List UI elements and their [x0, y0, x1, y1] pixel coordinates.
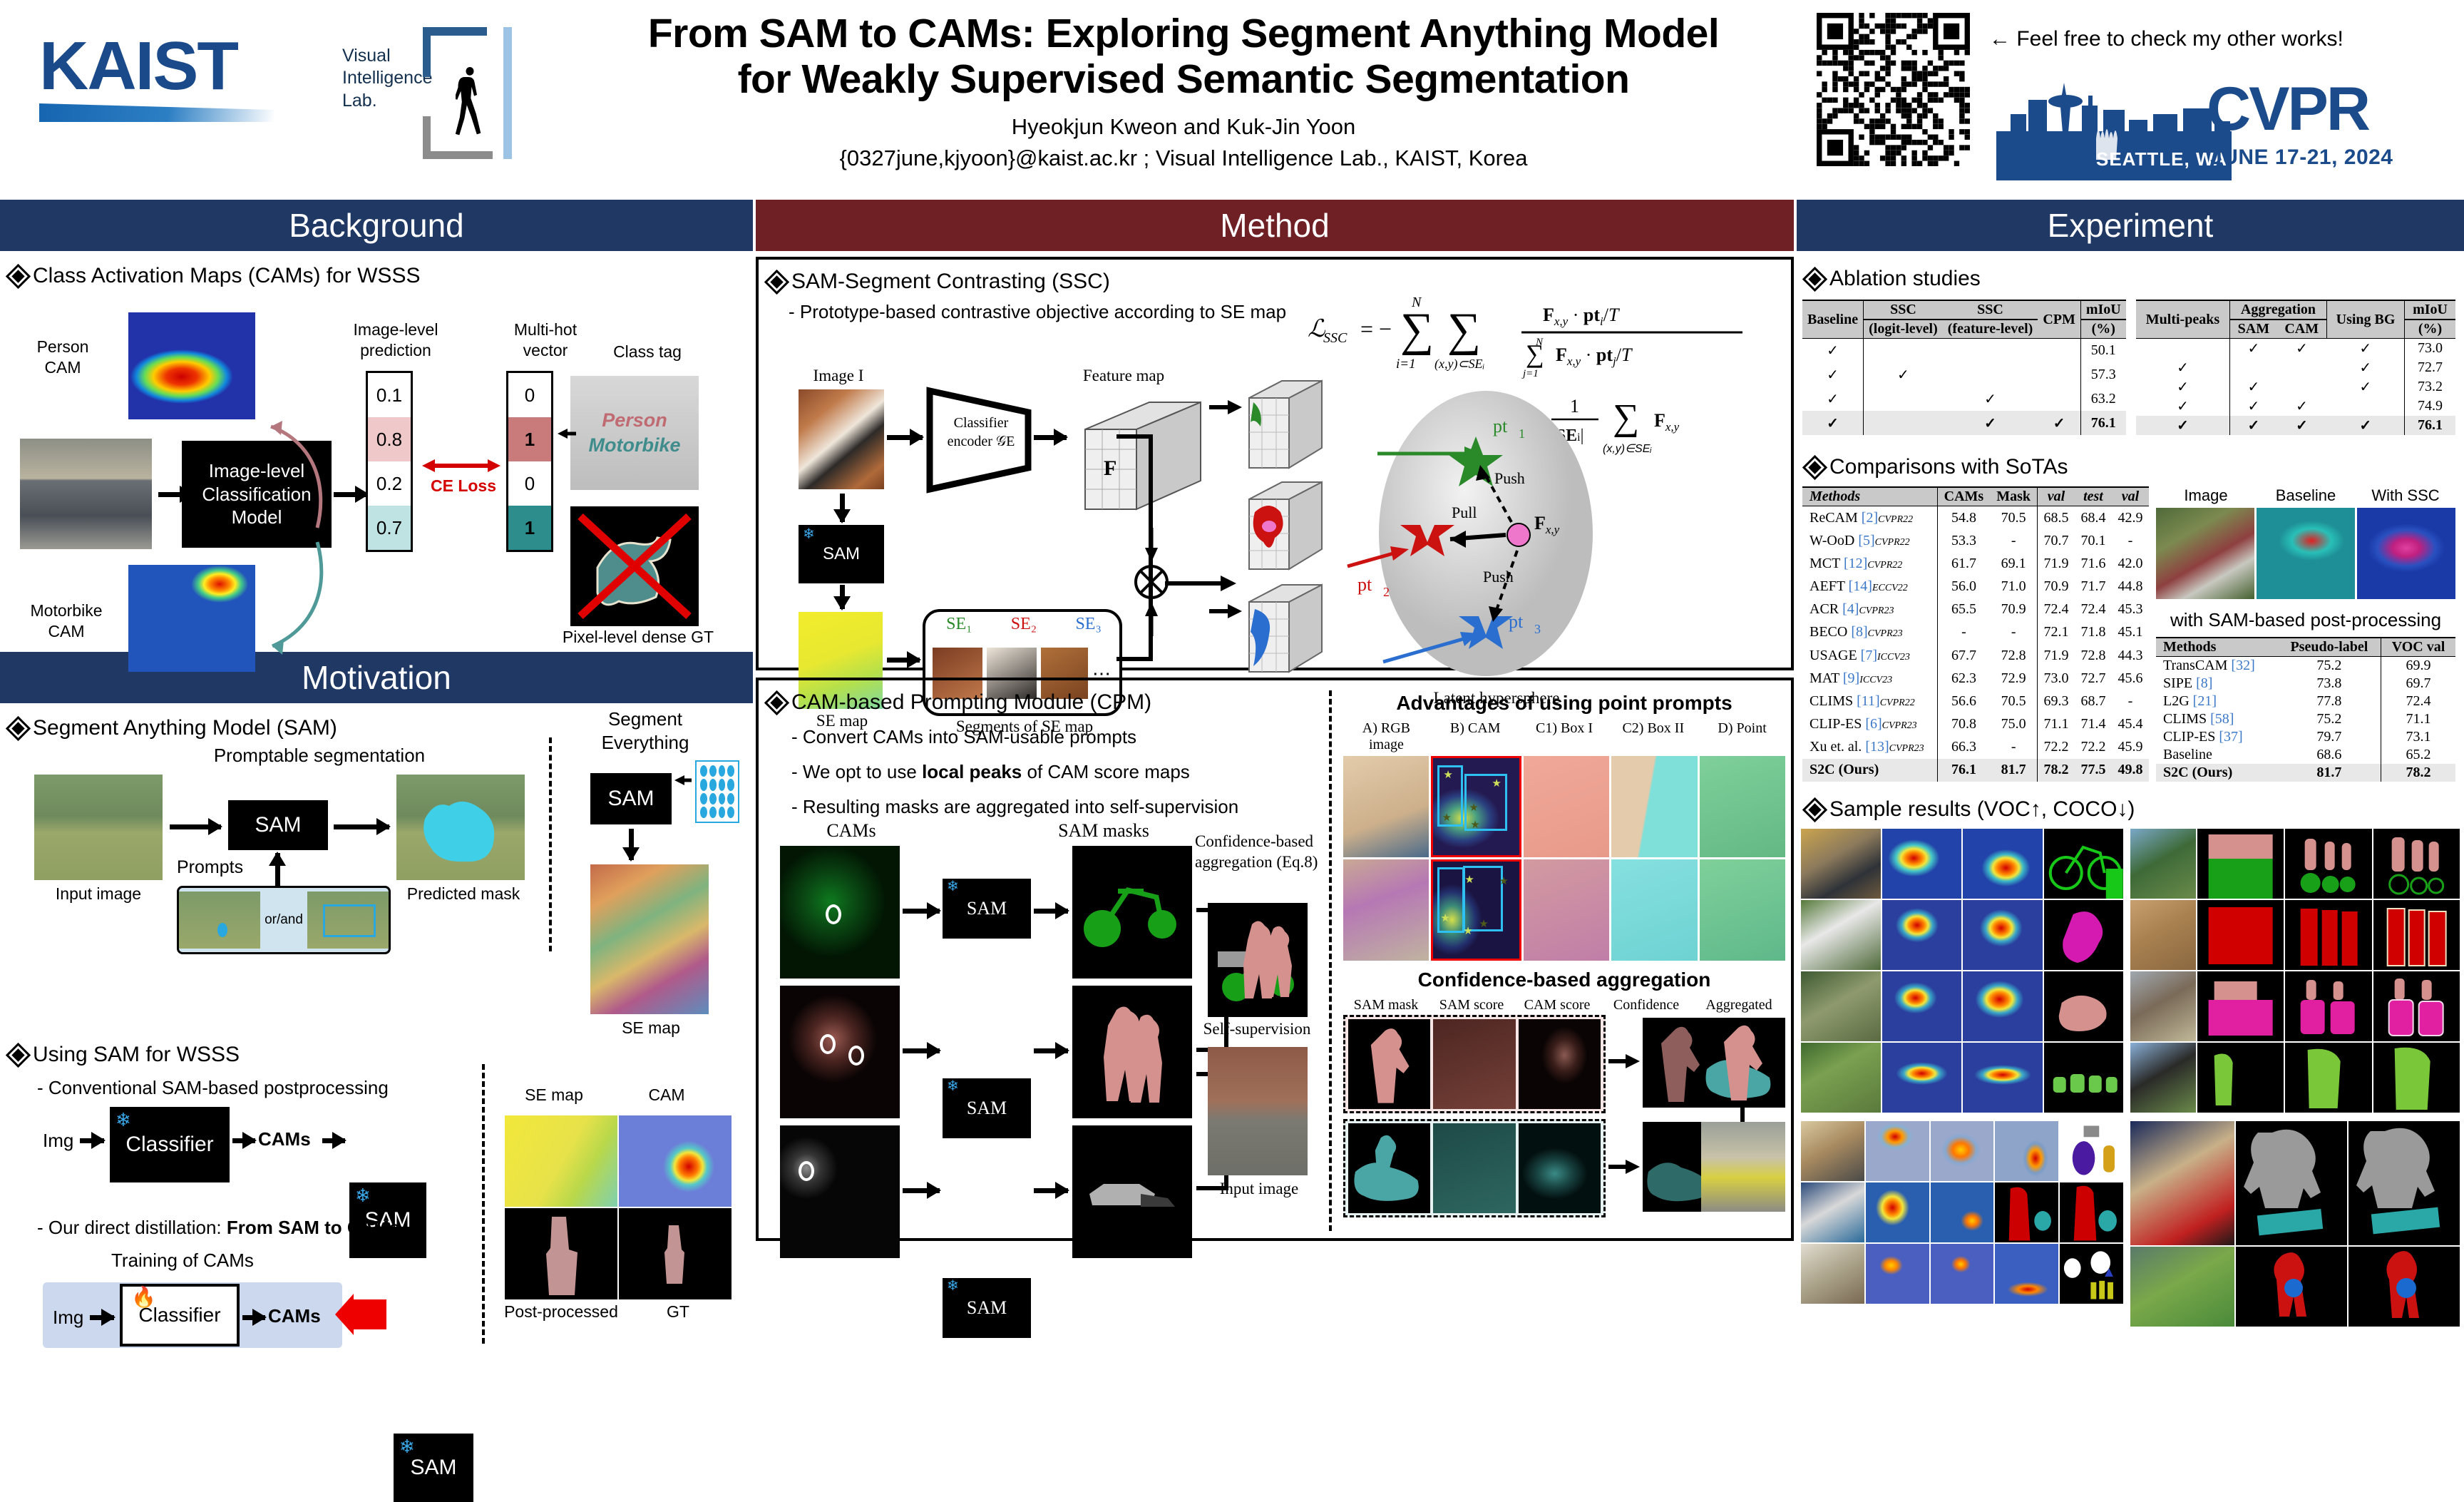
table-row: ReCAM [2]CVPR2254.870.568.568.442.9 [1802, 506, 2149, 530]
ours-bold-text: From SAM to CAMs [227, 1217, 400, 1238]
adv-col-label: C2) Box II [1610, 720, 1696, 753]
sample-mask-b [2285, 971, 2371, 1041]
sota-value-cell: 72.2 [2075, 736, 2112, 759]
sample-cam [1866, 1121, 1929, 1181]
sota-value-cell: 71.0 [1990, 576, 2037, 598]
sota-value-cell: 45.3 [2112, 598, 2149, 621]
check-cell [1864, 387, 1943, 412]
table-row: SIPE [8]73.869.7 [2156, 675, 2455, 693]
sam-mask-bike [1348, 1123, 1430, 1213]
sota-value-cell: 71.1 [2037, 712, 2075, 735]
poster-root: KAIST Visual Intelligence Lab. From SAM … [0, 0, 2464, 1232]
sota-method-cell: ACR [4]CVPR23 [1802, 598, 1937, 621]
cam-score-bike [1519, 1123, 1601, 1213]
qual-col-label: With SSC [2356, 486, 2455, 505]
sota-value-cell: 72.4 [2075, 598, 2112, 621]
svg-text:pt: pt [1493, 416, 1508, 436]
col-baseline: Baseline [1802, 300, 1864, 339]
sample-mask [2044, 1043, 2124, 1113]
adv-col-label: D) Point [1699, 720, 1785, 753]
sota-value-cell: - [1990, 621, 2037, 644]
confagg-col-label: CAM score [1514, 997, 1600, 1013]
sample-mask-a [2236, 1121, 2347, 1245]
cvpr-date-label: JUNE 17-21, 2024 [2210, 145, 2393, 170]
sota-value-cell: - [1990, 529, 2037, 552]
sample-image [1801, 900, 1881, 970]
ours-bullet: - Our direct distillation: From SAM to C… [37, 1217, 400, 1239]
train-cams-label: CAMs [268, 1305, 321, 1327]
sample-row [2130, 829, 2460, 899]
sota-value-cell: 73.0 [2037, 667, 2075, 690]
confagg-row-person [1343, 1015, 1606, 1113]
sample-mask [2044, 971, 2124, 1041]
post-value-cell: 75.2 [2278, 710, 2381, 728]
check-cell: ✓ [2136, 416, 2230, 435]
sota-value-cell: 44.3 [2112, 644, 2149, 667]
post-col-0: Methods [2156, 638, 2278, 657]
sam-score-bike [1433, 1123, 1515, 1213]
sam-box-cpm-3: ❄ SAM [943, 1278, 1031, 1338]
col-ssc-feature-sub: (feature-level) [1943, 320, 2038, 339]
confagg-rows [1343, 1015, 1785, 1222]
svg-text:Push: Push [1483, 568, 1514, 586]
sample-mask-2 [2060, 1182, 2123, 1242]
sota-method-cell: BECO [8]CVPR23 [1802, 621, 1937, 644]
prediction-cell: 0.7 [368, 506, 411, 550]
title-block: From SAM to CAMs: Exploring Segment Anyt… [592, 11, 1775, 173]
miou-cell: 74.9 [2405, 397, 2455, 416]
post-method-cell: CLIMS [58] [2156, 710, 2278, 728]
qualitative-images [2156, 508, 2455, 599]
snowflake-icon: ❄ [947, 1277, 959, 1294]
svg-text:N: N [1535, 337, 1544, 348]
diamond-bullet-icon [9, 719, 28, 738]
prompt-point-example [179, 892, 260, 949]
conventional-bullet: - Conventional SAM-based postprocessing [37, 1077, 389, 1099]
miou-cell: 57.3 [2080, 363, 2125, 387]
conv-cams-label: CAMs [258, 1128, 311, 1150]
miou-cell: 73.0 [2405, 339, 2455, 359]
sota-value-cell: 45.1 [2112, 621, 2149, 644]
cvpr-wordmark: CVPR [2207, 78, 2368, 140]
table-row: MAT [9]ICCV2362.372.973.072.745.6 [1802, 667, 2149, 690]
table-row: ✓✓✓73.2 [2136, 377, 2455, 397]
gt-caption: GT [632, 1302, 724, 1322]
sample-image [2130, 1121, 2234, 1245]
self-supervision-image [1208, 903, 1308, 1017]
confagg-row-bike [1343, 1119, 1606, 1217]
se2-label: SE₂ [1011, 615, 1037, 634]
confagg-col-label: Confidence [1600, 997, 1693, 1013]
sota-col-5: val [2112, 487, 2149, 506]
post-value-cell: 79.7 [2278, 728, 2381, 746]
poster-authors: Hyeokjun Kweon and Kuk-Jin Yoon [592, 112, 1775, 142]
check-cell: ✓ [2230, 416, 2277, 435]
dense-gt-image [570, 506, 699, 626]
post-method-cell: L2G [21] [2156, 693, 2278, 710]
ablation-table-b: Multi-peaks Aggregation Using BG mIoU SA… [2136, 300, 2455, 435]
diamond-bullet-icon [1805, 458, 1824, 477]
sample-mask [1995, 1182, 2058, 1242]
col-ssc-feature: SSC [1943, 300, 2038, 320]
table-row: USAGE [7]ICCV2367.772.871.972.844.3 [1802, 644, 2149, 667]
star-marker-icon: ★ [1499, 874, 1508, 887]
dog-point-image [1700, 756, 1785, 857]
check-cell: ✓ [2230, 377, 2277, 397]
post-method-cell: SIPE [8] [2156, 675, 2278, 693]
sota-col-0: Methods [1802, 487, 1937, 506]
advantages-panel: Advantages of using point prompts A) RGB… [1343, 692, 1785, 961]
sam-post-table: MethodsPseudo-labelVOC val TransCAM [32]… [2156, 637, 2455, 782]
sota-method-cell: CLIMS [11]CVPR22 [1802, 690, 1937, 712]
table-row: CLIMS [58]75.271.1 [2156, 710, 2455, 728]
sota-method-cell: AEFT [14]ECCV22 [1802, 576, 1937, 598]
star-marker-icon: ★ [1464, 873, 1474, 886]
sample-cam2 [1963, 900, 2043, 970]
star-marker-icon: ★ [1463, 924, 1472, 937]
sota-method-cell: W-OoD [5]CVPR22 [1802, 529, 1937, 552]
svg-text:SSC: SSC [1323, 330, 1347, 346]
column-left: Background Class Activation Maps (CAMs) … [0, 200, 753, 1342]
sota-value-cell: 45.6 [2112, 667, 2149, 690]
person-cam-label: Person CAM [20, 337, 106, 378]
ablation-a-body: ✓50.1✓✓57.3✓✓63.2✓✓✓76.1 [1802, 339, 2126, 436]
diamond-bullet-icon [767, 272, 786, 292]
svg-text:Pull: Pull [1452, 504, 1477, 521]
feature-cube-red [1238, 475, 1330, 582]
check-cell [2277, 358, 2327, 377]
sample-row [2130, 1247, 2460, 1327]
dog-box1-image [1524, 756, 1609, 857]
class-tag-person: Person [602, 409, 667, 431]
poster-header: KAIST Visual Intelligence Lab. From SAM … [0, 0, 2464, 200]
check-cell [2230, 358, 2277, 377]
se-map-street-image [590, 864, 709, 1014]
sample-results-coco-left [1801, 1121, 2123, 1327]
check-cell: ✓ [2326, 358, 2404, 377]
sota-value-cell: 77.5 [2075, 759, 2112, 782]
adv-col-label: A) RGB image [1343, 720, 1429, 753]
sample-cam [1882, 829, 1962, 899]
sample-cam2 [1931, 1182, 1994, 1242]
cams-label: CAMs [780, 820, 923, 842]
lab-frame-graphic [423, 27, 512, 159]
sample-row [1801, 900, 2123, 970]
sample-image [1801, 971, 1881, 1041]
col-agg-sam: SAM [2230, 320, 2277, 339]
svg-text:Fx,y · pti/T: Fx,y · pti/T [1543, 305, 1620, 328]
table-row: ✓✓63.2 [1802, 387, 2126, 412]
advantages-row-dog: ★ ★ ★ ★ ★ [1343, 756, 1785, 857]
check-cell: ✓ [2136, 377, 2230, 397]
post-value-cell: 78.2 [2381, 764, 2455, 782]
sota-value-cell: 49.8 [2112, 759, 2149, 782]
cvpr-logo: SEATTLE, WA CVPR JUNE 17-21, 2024 [1996, 63, 2445, 180]
heading-samples: Sample results (VOC↑, COCO↓) [1808, 797, 2464, 822]
sota-value-cell: 68.5 [2037, 506, 2075, 530]
self-supervision-caption: Self-supervision [1189, 1020, 1325, 1038]
col-multipeaks: Multi-peaks [2136, 300, 2230, 339]
heading-text: SAM-Segment Contrasting (SSC) [791, 270, 1110, 294]
check-cell [2136, 339, 2230, 359]
sota-value-cell: 72.1 [2037, 621, 2075, 644]
check-cell: ✓ [2277, 339, 2327, 359]
table-header-row: MethodsCAMsMaskvaltestval [1802, 487, 2149, 506]
table-row: BECO [8]CVPR23--72.171.845.1 [1802, 621, 2149, 644]
star-marker-icon: ★ [1469, 801, 1478, 814]
sample-row [1801, 1121, 2123, 1181]
post-processed-caption: Post-processed [488, 1302, 635, 1322]
check-cell: ✓ [1864, 363, 1943, 387]
class-tag-arrow [558, 426, 576, 444]
sample-mask-c [2373, 971, 2460, 1041]
sota-value-cell: 72.7 [2075, 667, 2112, 690]
sample-image [2130, 1043, 2196, 1113]
flame-icon: 🔥 [131, 1285, 156, 1309]
sample-mask-a [2197, 971, 2284, 1041]
snowflake-icon: ❄ [947, 1077, 959, 1095]
aggregated-input-image [1701, 1122, 1785, 1212]
sample-cam [1866, 1244, 1929, 1304]
snowflake-icon: ❄ [947, 877, 959, 895]
poster-title-line-2: for Weakly Supervised Semantic Segmentat… [592, 57, 1775, 103]
local-peak-marker [799, 1161, 814, 1181]
col-ssc-logit: SSC [1864, 300, 1943, 320]
babies-box1-image [1524, 859, 1609, 961]
sample-image [2130, 900, 2196, 970]
check-cell: ✓ [2326, 377, 2404, 397]
check-cell: ✓ [2326, 339, 2404, 359]
prediction-vector: 0.1 0.8 0.2 0.7 [366, 371, 413, 552]
multihot-cell: 1 [508, 417, 551, 461]
sota-value-cell: - [1990, 736, 2037, 759]
table-row: CLIP-ES [37]79.773.1 [2156, 728, 2455, 746]
sota-value-cell: 72.2 [2037, 736, 2075, 759]
se-map-small-image [505, 1115, 617, 1207]
post-body: TransCAM [32]75.269.9SIPE [8]73.869.7L2G… [2156, 657, 2455, 782]
se-map-caption: SE map [583, 1018, 719, 1038]
check-cell: ✓ [2136, 358, 2230, 377]
sample-mask-a [2197, 1043, 2284, 1113]
miou-cell: 72.7 [2405, 358, 2455, 377]
local-peak-marker [826, 904, 841, 924]
box-prompt-icon [323, 904, 376, 937]
sota-col-1: CAMs [1937, 487, 1990, 506]
sample-mask-b [2285, 829, 2371, 899]
sota-value-cell: - [1937, 621, 1990, 644]
miou-cell: 76.1 [2080, 411, 2125, 435]
sota-value-cell: 71.6 [2075, 552, 2112, 575]
feature-map-label: Feature map [1052, 367, 1195, 385]
kaist-logo: KAIST [39, 32, 324, 139]
sample-cam2 [1963, 1043, 2043, 1113]
post-value-cell: 77.8 [2278, 693, 2381, 710]
check-cell: ✓ [1943, 387, 2038, 412]
sample-cam2 [1963, 829, 2043, 899]
sample-cam [1882, 971, 1962, 1041]
snowflake-icon: ❄ [115, 1109, 131, 1131]
local-peaks-bold: local peaks [922, 761, 1022, 782]
table-row: Baseline68.665.2 [2156, 746, 2455, 764]
svg-text:N: N [1411, 295, 1422, 310]
sample-mask-b [2348, 1247, 2460, 1327]
svg-text:∑: ∑ [1400, 304, 1434, 356]
ce-loss-arrow [422, 458, 500, 477]
sample-results-grid [1801, 829, 2464, 1114]
sam-box-promptable: SAM [228, 800, 328, 850]
sota-body: ReCAM [2]CVPR2254.870.568.568.442.9W-OoD… [1802, 506, 2149, 782]
lab-line-3: Lab. [342, 90, 432, 112]
sample-image [1801, 1182, 1864, 1242]
check-cell [1864, 411, 1943, 435]
sota-method-cell: S2C (Ours) [1802, 759, 1937, 782]
check-cell: ✓ [1802, 411, 1864, 435]
ablation-table-a: Baseline SSC SSC CPM mIoU (logit-level) … [1802, 300, 2126, 435]
sota-value-cell: 72.8 [1990, 644, 2037, 667]
check-cell [1943, 339, 2038, 363]
image-level-prediction-label: Image-level prediction [328, 320, 463, 361]
sota-value-cell: 71.4 [2075, 712, 2112, 735]
snowflake-icon: ❄ [803, 525, 815, 543]
star-marker-icon: ★ [1443, 768, 1452, 781]
sota-value-cell: 70.1 [2075, 529, 2112, 552]
sota-value-cell: 68.7 [2075, 690, 2112, 712]
ssc-panel: SAM-Segment Contrasting (SSC) - Prototyp… [756, 257, 1794, 670]
motorbike-cam-heatmap-image [128, 565, 255, 672]
cam-feedback-arrow-down [250, 535, 342, 670]
snowflake-icon: ❄ [355, 1185, 371, 1207]
svg-text:1: 1 [1519, 426, 1525, 441]
feature-routing-line [1115, 434, 1158, 591]
sample-image [2130, 971, 2196, 1041]
check-cell [2038, 339, 2080, 363]
classifier-encoder-label: Classifier encoder 𝒢E [937, 414, 1025, 451]
local-peak-marker [848, 1046, 864, 1066]
sota-method-cell: Xu et. al. [13]CVPR23 [1802, 736, 1937, 759]
sample-results-voc-left [1801, 829, 2123, 1114]
table-row: W-OoD [5]CVPR2253.3-70.770.1- [1802, 529, 2149, 552]
col-ssc-logit-sub: (logit-level) [1864, 320, 1943, 339]
prediction-cell: 0.2 [368, 461, 411, 506]
multihot-cell: 1 [508, 506, 551, 550]
arrow-left-icon [674, 773, 692, 787]
column-right: Experiment Ablation studies Baseline SSC… [1797, 200, 2464, 1327]
heading-text: Using SAM for WSSS [33, 1043, 240, 1067]
vertical-divider [482, 1064, 485, 1344]
train-image [2156, 508, 2254, 599]
sota-value-cell: 54.8 [1937, 506, 1990, 530]
sota-value-cell: 45.4 [2112, 712, 2149, 735]
sota-method-cell: MAT [9]ICCV23 [1802, 667, 1937, 690]
check-cell: ✓ [2230, 339, 2277, 359]
sample-image [2130, 829, 2196, 899]
cam-gray-map [780, 1125, 900, 1258]
sota-value-cell: - [2112, 529, 2149, 552]
cvpr-city-label: SEATTLE, WA [2096, 148, 2227, 170]
sota-value-cell: 66.3 [1937, 736, 1990, 759]
post-value-cell: 81.7 [2278, 764, 2381, 782]
predicted-mask-caption: Predicted mask [385, 884, 542, 904]
table-row: ✓✓✓73.0 [2136, 339, 2455, 359]
heading-text: Ablation studies [1829, 267, 1981, 291]
train-img-label: Img [53, 1307, 83, 1329]
sample-mask-a [2236, 1247, 2347, 1327]
post-value-cell: 72.4 [2381, 693, 2455, 710]
post-col-1: Pseudo-label [2278, 638, 2381, 657]
qr-code[interactable] [1817, 13, 1970, 166]
check-cell: ✓ [2326, 416, 2404, 435]
post-method-cell: TransCAM [32] [2156, 657, 2278, 675]
sample-cam2 [1963, 971, 2043, 1041]
sam-post-title: with SAM-based post-processing [2156, 609, 2455, 631]
sample-mask-c [2373, 829, 2460, 899]
se1-label: SE₁ [946, 615, 972, 634]
dog-rgb-image [1343, 756, 1429, 857]
svg-text:2: 2 [1383, 585, 1390, 599]
check-cell [2277, 377, 2327, 397]
sample-row [1801, 829, 2123, 899]
sota-method-cell: MCT [12]CVPR22 [1802, 552, 1937, 575]
sample-cam [1882, 900, 1962, 970]
walking-person-icon [456, 64, 484, 153]
table-header-row: MethodsPseudo-labelVOC val [2156, 638, 2455, 657]
star-marker-icon: ★ [1440, 911, 1449, 924]
local-peak-marker [820, 1034, 836, 1054]
sota-col-2: Mask [1990, 487, 2037, 506]
sample-image [1801, 1244, 1864, 1304]
sota-value-cell: - [2112, 690, 2149, 712]
sample-mask-b [2285, 900, 2371, 970]
cam-feedback-arrow-up [250, 399, 342, 535]
post-value-cell: 75.2 [2278, 657, 2381, 675]
adv-col-label: B) CAM [1432, 720, 1519, 753]
col-miou: mIoU [2405, 300, 2455, 320]
multihot-cell: 0 [508, 373, 551, 417]
post-method-cell: Baseline [2156, 746, 2278, 764]
sota-col-3: val [2037, 487, 2075, 506]
check-cell: ✓ [2277, 416, 2327, 435]
corgi-input-image [34, 775, 163, 880]
check-cell: ✓ [2277, 397, 2327, 416]
sota-value-cell: 65.5 [1937, 598, 1990, 621]
ablation-b-body: ✓✓✓73.0✓✓72.7✓✓✓73.2✓✓✓74.9✓✓✓✓76.1 [2136, 339, 2455, 436]
sam-mask-bike [1072, 846, 1192, 979]
babies-point-image [1700, 859, 1785, 961]
table-row: S2C (Ours)81.778.2 [2156, 764, 2455, 782]
sota-value-cell: 62.3 [1937, 667, 1990, 690]
lab-name-text: Visual Intelligence Lab. [342, 45, 432, 112]
col-miou-sub: (%) [2405, 320, 2455, 339]
sample-cam [1866, 1182, 1929, 1242]
check-cell [1943, 363, 2038, 387]
svg-text:Fx,y · ptj/T: Fx,y · ptj/T [1556, 344, 1633, 368]
post-value-cell: 68.6 [2278, 746, 2381, 764]
sample-results-coco-right [2130, 1121, 2460, 1327]
sample-cam3 [1995, 1244, 2058, 1304]
sota-value-cell: 81.7 [1990, 759, 2037, 782]
point-grid-icon [695, 760, 739, 823]
sample-mask [2044, 829, 2124, 899]
sample-mask-c [2373, 900, 2460, 970]
or-and-label: or/and [265, 912, 303, 928]
table-row: ✓✓72.7 [2136, 358, 2455, 377]
right-cam-label: CAM [615, 1085, 719, 1105]
prompt-box-example [307, 892, 389, 949]
sample-mask-b [2285, 1043, 2371, 1113]
sample-image [1801, 1121, 1864, 1181]
heading-sota: Comparisons with SoTAs [1808, 455, 2464, 479]
sota-col-4: test [2075, 487, 2112, 506]
